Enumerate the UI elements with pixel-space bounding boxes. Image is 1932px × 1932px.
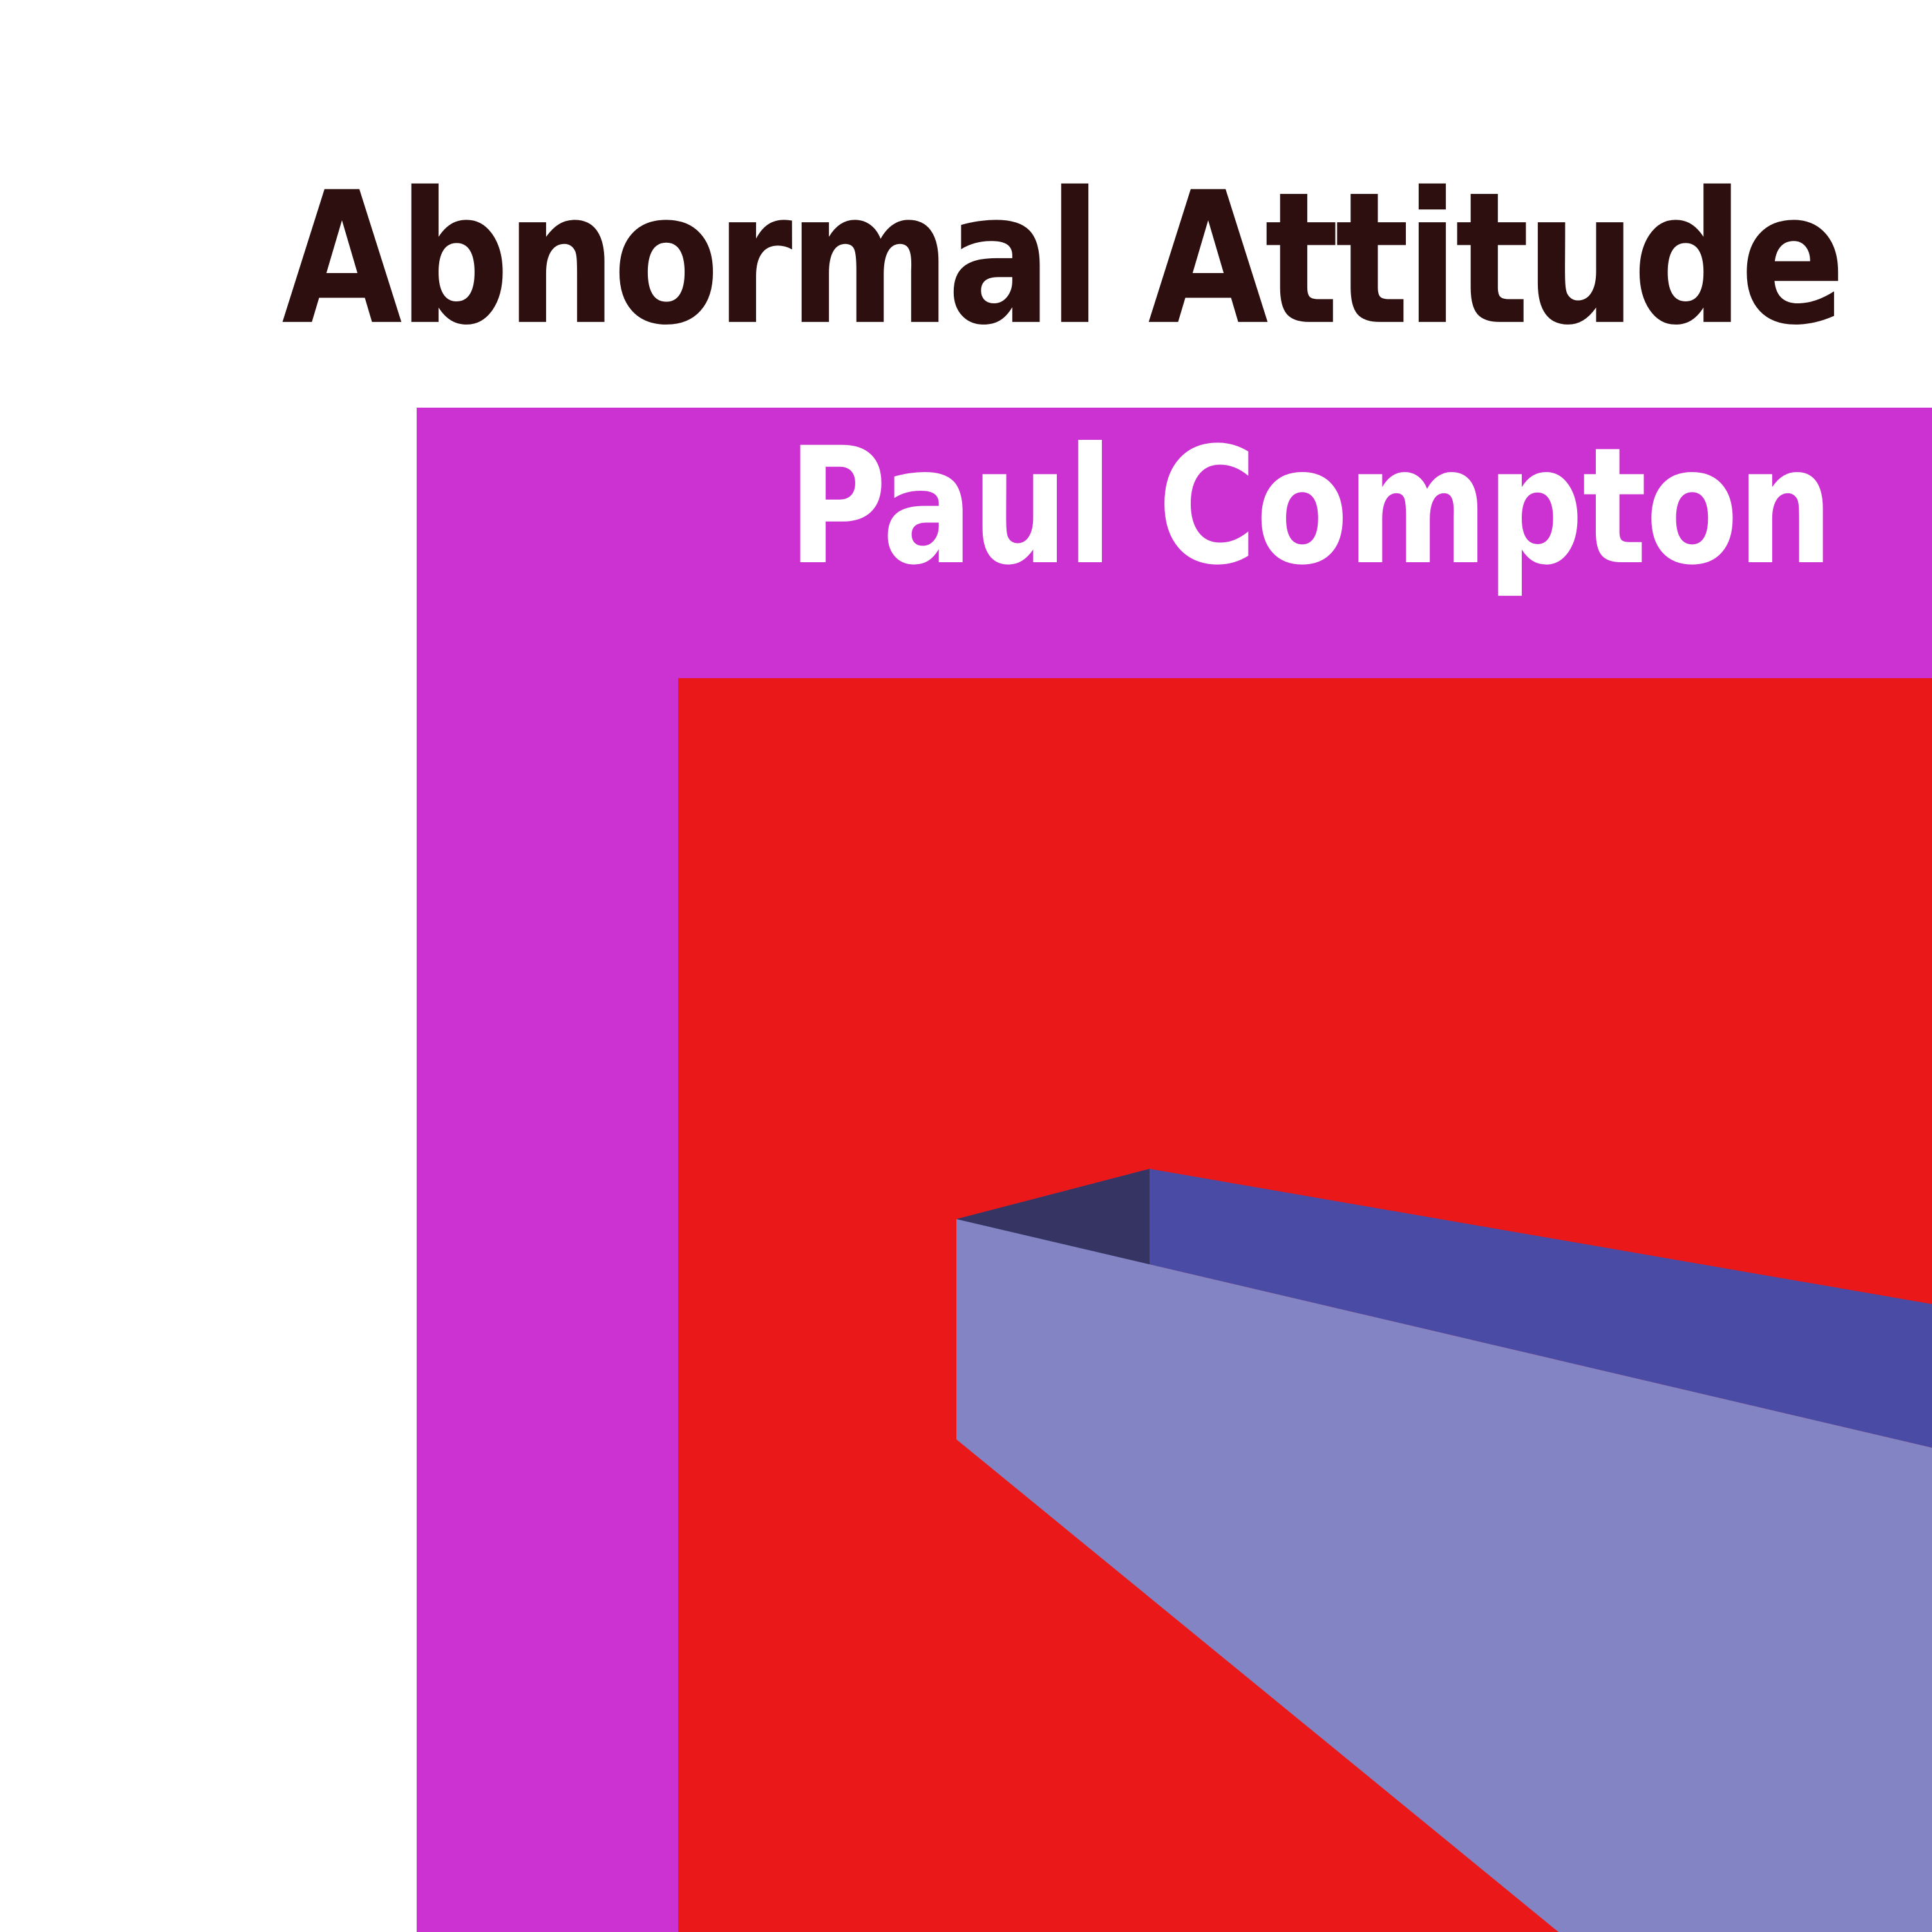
author-block: Paul Compton [0, 451, 1832, 587]
title-block: Abnormal Attitude [0, 193, 1842, 350]
red-panel [678, 678, 1932, 1932]
artist-name: Paul Compton [788, 426, 1832, 587]
album-title: Abnormal Attitude [282, 168, 1842, 350]
album-cover: Abnormal Attitude Paul Compton [0, 0, 1932, 1932]
